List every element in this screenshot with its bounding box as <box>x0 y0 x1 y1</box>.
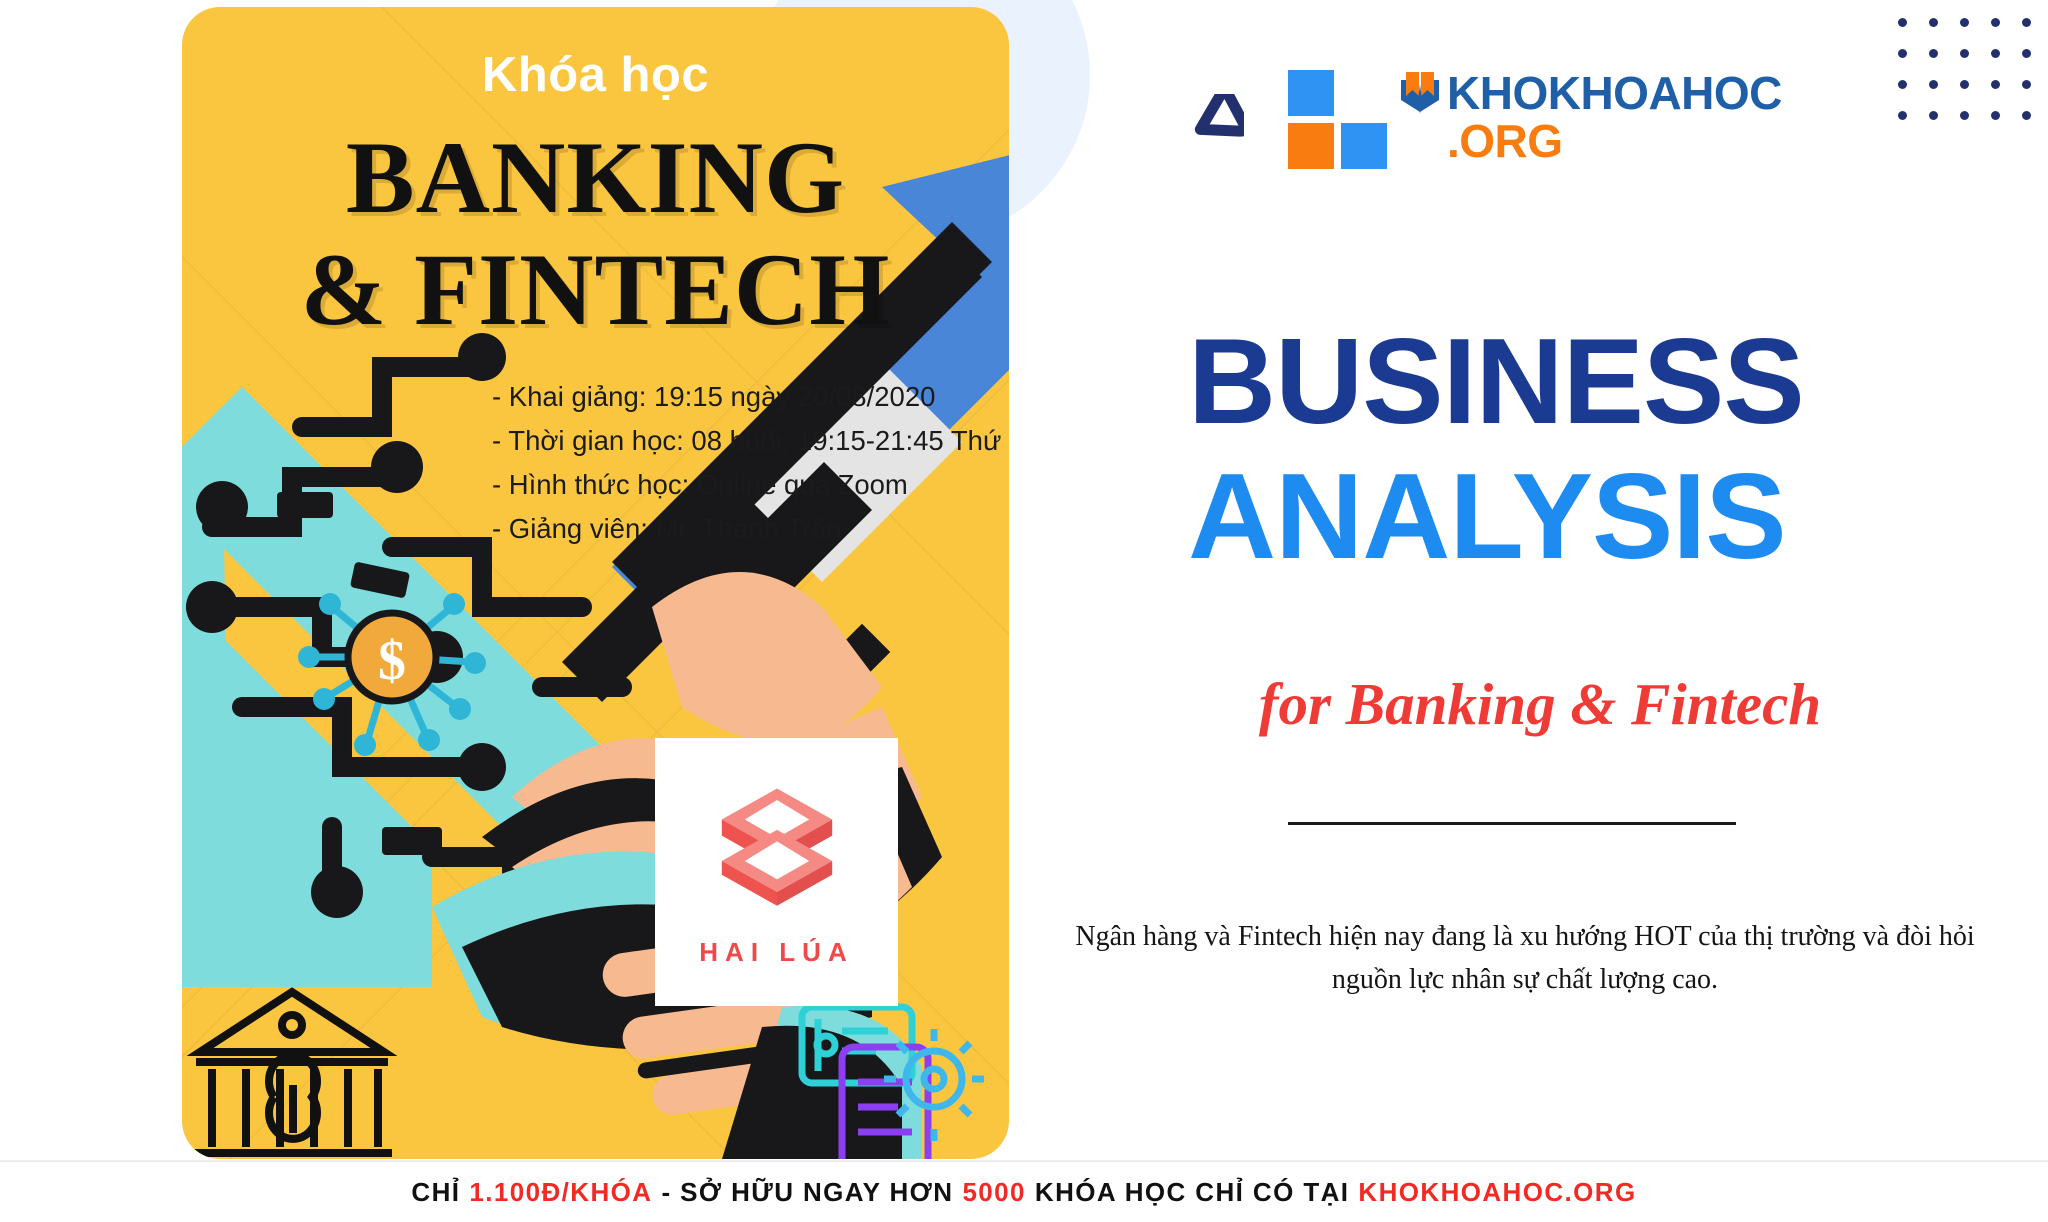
hai-lua-logo-icon <box>708 777 846 915</box>
headline-line2: ANALYSIS <box>1188 455 1786 577</box>
svg-text:$: $ <box>378 630 406 692</box>
description-paragraph: Ngân hàng và Fintech hiện nay đang là xu… <box>1050 915 2000 1001</box>
poster-eyebrow: Khóa học <box>182 47 1009 103</box>
banner-part-1: CHỈ <box>411 1177 460 1208</box>
banner-price: 1.100Đ/KHÓA <box>469 1177 652 1208</box>
brand-tld-text: .ORG <box>1447 118 1782 164</box>
page-canvas: $ <box>0 0 2048 1222</box>
play-triangle-icon <box>1192 94 1244 146</box>
poster-bullet-list: - Khai giảng: 19:15 ngày 20/08/2020 - Th… <box>492 375 1009 551</box>
banner-part-5: KHÓA HỌC CHỈ CÓ TẠI <box>1035 1177 1350 1208</box>
poster-bullet-item: - Giảng viên: Mr. Thanh Trần <box>492 507 1009 551</box>
open-book-icon <box>1397 70 1443 118</box>
logo-square-grid <box>1288 70 1387 169</box>
banner-site-url[interactable]: KHOKHOAHOC.ORG <box>1358 1177 1636 1208</box>
poster-title-line2: & FINTECH <box>182 231 1009 349</box>
sponsor-card: HAI LÚA <box>655 738 898 1006</box>
poster-bullet-item: - Thời gian học: 08 buổi, 19:15-21:45 Th… <box>492 419 1009 463</box>
banner-course-count: 5000 <box>962 1177 1025 1208</box>
promo-banner[interactable]: CHỈ 1.100Đ/KHÓA - SỞ HỮU NGAY HƠN 5000 K… <box>0 1160 2048 1222</box>
course-poster: $ <box>182 7 1009 1159</box>
site-brand[interactable]: KHOKHOAHOC .ORG <box>1192 70 1782 169</box>
brand-name-text: KHOKHOAHOC <box>1447 73 1782 114</box>
divider-rule <box>1288 822 1736 825</box>
poster-bullet-item: - Khai giảng: 19:15 ngày 20/08/2020 <box>492 375 1009 419</box>
sponsor-name: HAI LÚA <box>699 937 853 968</box>
banner-part-3: - SỞ HỮU NGAY HƠN <box>661 1177 953 1208</box>
headline-subtitle: for Banking & Fintech <box>1180 670 1900 739</box>
poster-bullet-item: - Hình thức học: Online qua Zoom <box>492 463 1009 507</box>
khokhoahoc-logo[interactable]: KHOKHOAHOC .ORG <box>1288 70 1782 169</box>
poster-title-line1: BANKING <box>182 119 1009 237</box>
headline-line1: BUSINESS <box>1188 320 1804 442</box>
dot-grid-decoration <box>1898 18 2048 142</box>
